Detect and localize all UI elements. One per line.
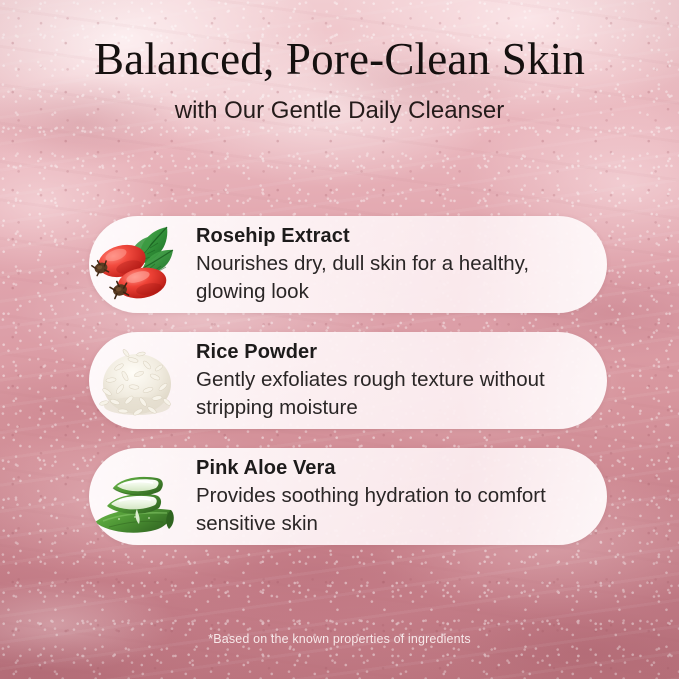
ingredient-card-rosehip[interactable]: Rosehip Extract Nourishes dry, dull skin… <box>89 216 607 313</box>
aloe-slice-upper <box>113 477 163 496</box>
rosehip-berries-icon <box>89 216 185 313</box>
ingredient-title: Rice Powder <box>196 340 591 364</box>
product-infographic-poster: Balanced, Pore-Clean Skin with Our Gentl… <box>0 0 679 679</box>
ingredient-title: Rosehip Extract <box>196 224 591 248</box>
ingredient-title: Pink Aloe Vera <box>196 456 591 480</box>
ingredient-card-list: Rosehip Extract Nourishes dry, dull skin… <box>89 216 607 545</box>
disclaimer-footnote: *Based on the known properties of ingred… <box>0 632 679 646</box>
rice-powder-pile-icon <box>89 332 185 429</box>
page-title: Balanced, Pore-Clean Skin <box>0 36 679 84</box>
ingredient-description: Gently exfoliates rough texture without … <box>196 366 591 421</box>
card-text-block: Rosehip Extract Nourishes dry, dull skin… <box>185 224 607 305</box>
ingredient-card-pink-aloe-vera[interactable]: Pink Aloe Vera Provides soothing hydrati… <box>89 448 607 545</box>
card-text-block: Pink Aloe Vera Provides soothing hydrati… <box>185 456 607 537</box>
aloe-vera-slices-icon <box>89 448 185 545</box>
page-subtitle: with Our Gentle Daily Cleanser <box>0 97 679 126</box>
card-text-block: Rice Powder Gently exfoliates rough text… <box>185 340 607 421</box>
ingredient-description: Provides soothing hydration to comfort s… <box>196 482 591 537</box>
ingredient-card-rice-powder[interactable]: Rice Powder Gently exfoliates rough text… <box>89 332 607 429</box>
header: Balanced, Pore-Clean Skin with Our Gentl… <box>0 0 679 125</box>
ingredient-description: Nourishes dry, dull skin for a healthy, … <box>196 250 591 305</box>
